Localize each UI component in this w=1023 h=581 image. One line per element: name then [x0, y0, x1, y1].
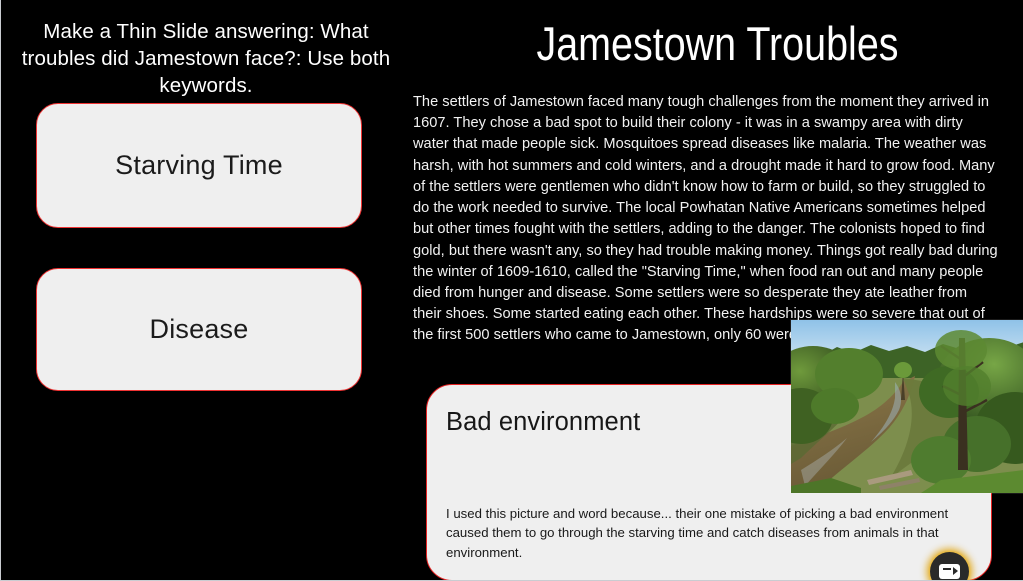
- keyword-card-starving-time[interactable]: Starving Time: [36, 103, 362, 228]
- explanation-caption: I used this picture and word because... …: [446, 504, 951, 562]
- keyword-label: Starving Time: [115, 150, 283, 181]
- explanation-heading: Bad environment: [446, 408, 640, 437]
- slide-canvas: Make a Thin Slide answering: What troubl…: [0, 0, 1023, 581]
- next-arrow-glyph: [939, 564, 960, 579]
- slide-title: Jamestown Troubles: [460, 20, 975, 67]
- keyword-label: Disease: [150, 314, 249, 345]
- keyword-card-disease[interactable]: Disease: [36, 268, 362, 391]
- arrowhead-shape: [953, 567, 958, 575]
- assignment-prompt: Make a Thin Slide answering: What troubl…: [1, 18, 411, 99]
- body-paragraph: The settlers of Jamestown faced many tou…: [413, 92, 999, 347]
- swamp-creek-image: [791, 320, 1023, 493]
